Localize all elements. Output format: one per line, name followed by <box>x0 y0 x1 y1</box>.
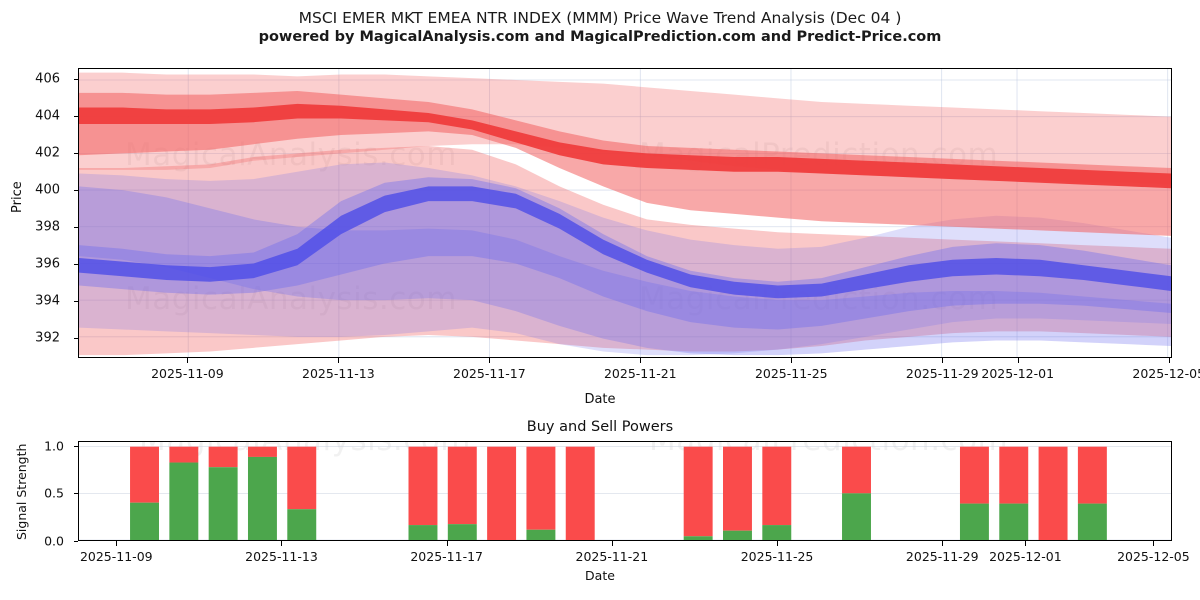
price-y-tick <box>74 338 79 339</box>
sell-power-segment <box>130 447 159 503</box>
power-bar <box>723 447 752 540</box>
price-wave-svg <box>79 69 1171 357</box>
power-bar <box>1039 447 1068 540</box>
sell-power-segment <box>842 447 871 494</box>
price-plot-area: MagicalAnalysis.com MagicalPrediction.co… <box>78 68 1172 358</box>
buy-power-segment <box>842 493 871 540</box>
price-y-tick-label: 396 <box>8 256 60 271</box>
buy-power-segment <box>287 509 316 540</box>
sell-power-segment <box>999 447 1028 504</box>
price-y-tick <box>74 301 79 302</box>
price-y-tick <box>74 264 79 265</box>
sell-power-segment <box>762 447 791 525</box>
sell-power-segment <box>960 447 989 504</box>
price-x-tick-label: 2025-11-25 <box>755 366 828 381</box>
powers-plot-area: MagicalAnalysis.com MagicalPrediction.co… <box>78 441 1172 541</box>
buy-power-segment <box>209 467 238 540</box>
powers-chart-title: Buy and Sell Powers <box>0 419 1200 435</box>
powers-chart-panel: MagicalAnalysis.com MagicalPrediction.co… <box>78 441 1172 541</box>
sell-power-segment <box>684 447 713 537</box>
power-bar <box>762 447 791 540</box>
price-x-tick <box>1018 358 1019 363</box>
buy-power-segment <box>130 503 159 540</box>
powers-x-tick <box>1025 541 1026 546</box>
powers-x-tick-label: 2025-11-21 <box>576 549 649 564</box>
powers-x-tick-label: 2025-11-13 <box>245 549 318 564</box>
price-y-tick <box>74 190 79 191</box>
sell-power-segment <box>209 447 238 468</box>
powers-x-tick-label: 2025-11-29 <box>906 549 979 564</box>
sell-power-segment <box>448 447 477 524</box>
page-title: MSCI EMER MKT EMEA NTR INDEX (MMM) Price… <box>0 8 1200 47</box>
price-x-tick-label: 2025-12-05 <box>1132 366 1200 381</box>
price-y-tick-label: 398 <box>8 219 60 234</box>
powers-x-tick <box>1153 541 1154 546</box>
powers-x-tick <box>612 541 613 546</box>
price-chart-panel: MagicalAnalysis.com MagicalPrediction.co… <box>78 68 1172 358</box>
power-bar <box>1078 447 1107 540</box>
buy-power-segment <box>684 536 713 540</box>
power-bar <box>130 447 159 540</box>
buy-power-segment <box>169 463 198 540</box>
price-x-tick <box>791 358 792 363</box>
price-x-tick <box>640 358 641 363</box>
powers-x-tick-label: 2025-11-25 <box>741 549 814 564</box>
price-x-tick-label: 2025-11-29 <box>906 366 979 381</box>
power-bar <box>248 447 277 540</box>
sell-power-segment <box>409 447 438 525</box>
powers-x-tick <box>281 541 282 546</box>
sell-power-segment <box>487 447 516 540</box>
chart-subtitle: powered by MagicalAnalysis.com and Magic… <box>0 28 1200 47</box>
powers-x-tick <box>777 541 778 546</box>
sell-power-segment <box>248 447 277 457</box>
buy-power-segment <box>409 525 438 540</box>
buy-power-segment <box>723 531 752 540</box>
buy-power-segment <box>526 530 555 540</box>
power-bar <box>287 447 316 540</box>
power-bar <box>487 447 516 540</box>
price-y-tick <box>74 116 79 117</box>
powers-x-tick-label: 2025-12-05 <box>1117 549 1190 564</box>
price-y-tick-label: 402 <box>8 145 60 160</box>
price-x-axis-label: Date <box>0 392 1200 407</box>
powers-x-tick-label: 2025-12-01 <box>989 549 1062 564</box>
sell-power-segment <box>169 447 198 463</box>
powers-y-tick <box>74 541 79 542</box>
powers-y-tick <box>74 446 79 447</box>
power-bar <box>448 447 477 540</box>
powers-x-tick <box>116 541 117 546</box>
price-x-tick <box>338 358 339 363</box>
power-bar <box>684 447 713 540</box>
price-x-tick <box>942 358 943 363</box>
buy-power-segment <box>960 504 989 540</box>
powers-y-tick <box>74 493 79 494</box>
sell-power-segment <box>526 447 555 530</box>
buy-power-segment <box>762 525 791 540</box>
price-x-tick <box>1169 358 1170 363</box>
powers-x-tick <box>942 541 943 546</box>
sell-power-segment <box>566 447 595 540</box>
buy-power-segment <box>1078 504 1107 540</box>
buy-power-segment <box>248 457 277 540</box>
power-bar <box>566 447 595 540</box>
price-y-tick <box>74 79 79 80</box>
powers-y-axis-label: Signal Strength <box>14 444 29 540</box>
power-bar <box>960 447 989 540</box>
power-bar <box>526 447 555 540</box>
sell-power-segment <box>1078 447 1107 504</box>
price-x-tick-label: 2025-11-17 <box>453 366 526 381</box>
chart-page: MSCI EMER MKT EMEA NTR INDEX (MMM) Price… <box>0 0 1200 600</box>
power-bar <box>409 447 438 540</box>
price-y-tick-label: 404 <box>8 109 60 124</box>
power-bar <box>169 447 198 540</box>
price-x-tick <box>489 358 490 363</box>
price-y-tick <box>74 153 79 154</box>
price-x-tick-label: 2025-11-13 <box>302 366 375 381</box>
powers-x-tick-label: 2025-11-09 <box>80 549 153 564</box>
price-x-tick-label: 2025-12-01 <box>981 366 1054 381</box>
price-y-tick-label: 394 <box>8 293 60 308</box>
powers-x-tick-label: 2025-11-17 <box>410 549 483 564</box>
price-y-tick <box>74 227 79 228</box>
price-x-tick-label: 2025-11-21 <box>604 366 677 381</box>
power-bar <box>209 447 238 540</box>
power-bar <box>999 447 1028 540</box>
price-y-tick-label: 406 <box>8 72 60 87</box>
sell-power-segment <box>1039 447 1068 540</box>
powers-bars-svg <box>79 442 1171 540</box>
price-x-tick <box>187 358 188 363</box>
price-y-tick-label: 392 <box>8 330 60 345</box>
price-y-axis-label: Price <box>10 181 25 213</box>
powers-x-tick <box>447 541 448 546</box>
buy-power-segment <box>999 504 1028 540</box>
powers-x-axis-label: Date <box>0 568 1200 583</box>
price-x-tick-label: 2025-11-09 <box>151 366 224 381</box>
sell-power-segment <box>723 447 752 531</box>
chart-title: MSCI EMER MKT EMEA NTR INDEX (MMM) Price… <box>0 8 1200 28</box>
buy-power-segment <box>448 524 477 540</box>
sell-power-segment <box>287 447 316 510</box>
power-bar <box>842 447 871 540</box>
